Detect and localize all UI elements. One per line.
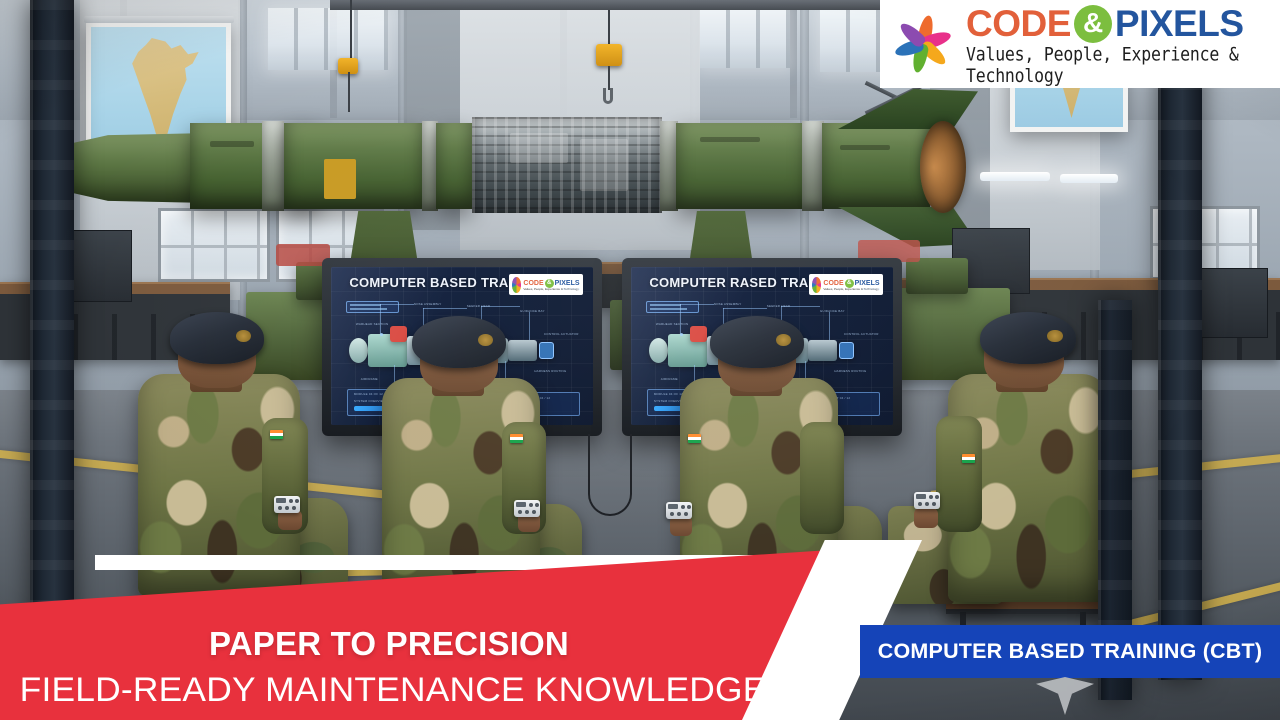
black-beret — [170, 312, 264, 364]
remote-button[interactable] — [535, 503, 539, 507]
hoist-cable — [348, 72, 350, 112]
diagram-legend — [346, 301, 399, 314]
diagram-callout: SEEKER HEAD — [767, 304, 791, 308]
gantry-column-left — [30, 0, 74, 640]
remote-button[interactable] — [532, 510, 536, 514]
brand-tagline: Values, People, Experience & Technology — [966, 43, 1266, 86]
headline-primary: PAPER TO PRECISION — [209, 625, 569, 663]
missile-yellow-bracket — [324, 159, 356, 199]
remote-button[interactable] — [292, 506, 296, 510]
diagram-callout: GUIDANCE BAY — [820, 309, 845, 313]
soldier-arm — [800, 422, 844, 534]
screen-brand-code: CODE — [823, 280, 843, 287]
remote-button[interactable] — [278, 506, 282, 510]
diagram-callout: GUIDANCE BAY — [520, 309, 545, 313]
missile-nozzle — [920, 121, 966, 213]
remote-button[interactable] — [529, 503, 533, 507]
soldier-hand — [278, 510, 302, 530]
diagram-leader — [423, 308, 466, 309]
bay-panel — [510, 133, 568, 163]
screen-brand-code: CODE — [523, 280, 543, 287]
cbt-label: COMPUTER BASED TRAINING (CBT) — [878, 639, 1262, 664]
pinwheel-logo-icon — [890, 13, 956, 75]
brand-code-word: CODE — [966, 5, 1071, 42]
soldier-hand — [914, 508, 938, 528]
pinwheel-logo-icon — [512, 277, 522, 293]
remote-button[interactable] — [932, 502, 936, 506]
black-beret — [980, 312, 1076, 364]
missile-joint-ring — [262, 121, 284, 211]
gantry-column-right — [1158, 0, 1202, 680]
remote-display — [516, 502, 526, 507]
missile-tail-body — [822, 123, 930, 209]
brand-pixels-word: PIXELS — [1115, 5, 1244, 42]
green-machinery — [906, 258, 968, 294]
legend-line — [650, 304, 681, 306]
black-beret — [412, 316, 506, 368]
indian-flag-patch — [962, 454, 975, 463]
crane-rail — [330, 0, 890, 10]
ceiling-beam — [790, 0, 797, 118]
missile-hardware — [700, 137, 760, 142]
monitor-cable — [588, 434, 632, 516]
missile-aft-body — [676, 123, 806, 209]
remote-button[interactable] — [295, 499, 299, 503]
strip-light — [1060, 174, 1118, 183]
gantry-texture — [1158, 0, 1202, 680]
brand-ampersand-badge: & — [1074, 5, 1112, 43]
brand-wordmark: CODE & PIXELS — [966, 5, 1266, 43]
map-roller — [84, 16, 234, 23]
screen-brand-pixels: PIXELS — [855, 280, 880, 287]
handheld-remote[interactable] — [666, 502, 692, 519]
handheld-remote[interactable] — [914, 492, 940, 509]
handheld-remote[interactable] — [514, 500, 540, 517]
hoist-cable — [608, 10, 610, 46]
remote-button[interactable] — [518, 510, 522, 514]
diagram-leader — [380, 304, 414, 305]
soldier-arm — [936, 416, 982, 532]
gantry-texture — [30, 0, 74, 640]
clerestory-window — [268, 8, 388, 70]
diagram-callout: SEEKER HEAD — [467, 304, 491, 308]
missile-open-equipment-bay — [472, 117, 662, 213]
legend-line — [350, 308, 387, 310]
brand-header-bar: CODE & PIXELS Values, People, Experience… — [880, 0, 1280, 88]
indian-flag-patch — [270, 430, 283, 439]
screen-brand-logo: CODE & PIXELS Values, People, Experience… — [809, 274, 883, 295]
legend-line — [650, 308, 687, 310]
missile-hardware — [210, 141, 254, 147]
remote-button[interactable] — [681, 505, 685, 509]
hoist-trolley — [596, 44, 622, 66]
diagram-side-note: SECTION A — [862, 287, 880, 291]
remote-display — [916, 494, 926, 499]
headline-secondary: FIELD-READY MAINTENANCE KNOWLEDGE — [20, 671, 767, 710]
handheld-remote[interactable] — [274, 496, 300, 513]
diagram-side-note: SECTION A — [562, 287, 580, 291]
diagram-legend — [646, 301, 699, 314]
remote-button[interactable] — [525, 510, 529, 514]
legend-line — [350, 304, 381, 306]
remote-button[interactable] — [285, 506, 289, 510]
soldier-hand — [670, 516, 692, 536]
hoist-cable — [350, 0, 352, 60]
screen-brand-pixels: PIXELS — [555, 280, 580, 287]
promo-banner-root: INDIA — [0, 0, 1280, 720]
hoist-cable — [608, 66, 610, 90]
blue-label-banner: COMPUTER BASED TRAINING (CBT) — [860, 625, 1280, 678]
pinwheel-logo-icon — [812, 277, 822, 293]
remote-button[interactable] — [670, 512, 674, 516]
remote-button[interactable] — [677, 512, 681, 516]
diagram-callout: NOSE ASSEMBLY — [714, 302, 742, 306]
sectioned-missile — [40, 115, 1000, 225]
indian-flag-patch — [688, 434, 701, 443]
bay-panel — [580, 139, 628, 191]
indian-flag-patch — [510, 434, 523, 443]
diagram-leader — [680, 304, 714, 305]
remote-display — [668, 504, 678, 509]
remote-button[interactable] — [935, 495, 939, 499]
remote-display — [276, 498, 286, 503]
remote-button[interactable] — [929, 495, 933, 499]
black-beret — [710, 316, 804, 368]
remote-button[interactable] — [687, 505, 691, 509]
remote-button[interactable] — [925, 502, 929, 506]
clerestory-window — [700, 6, 790, 68]
crane-hook-icon — [603, 88, 613, 104]
missile-hardware — [840, 145, 890, 150]
missile-section — [436, 123, 472, 209]
diagram-callout: NOSE ASSEMBLY — [414, 302, 442, 306]
screen-brand-logo: CODE & PIXELS Values, People, Experience… — [509, 274, 583, 295]
remote-button[interactable] — [918, 502, 922, 506]
remote-button[interactable] — [289, 499, 293, 503]
remote-button[interactable] — [684, 512, 688, 516]
diagram-leader — [723, 308, 766, 309]
missile-joint-ring — [802, 121, 824, 211]
brand-text-block: CODE & PIXELS Values, People, Experience… — [966, 5, 1266, 84]
